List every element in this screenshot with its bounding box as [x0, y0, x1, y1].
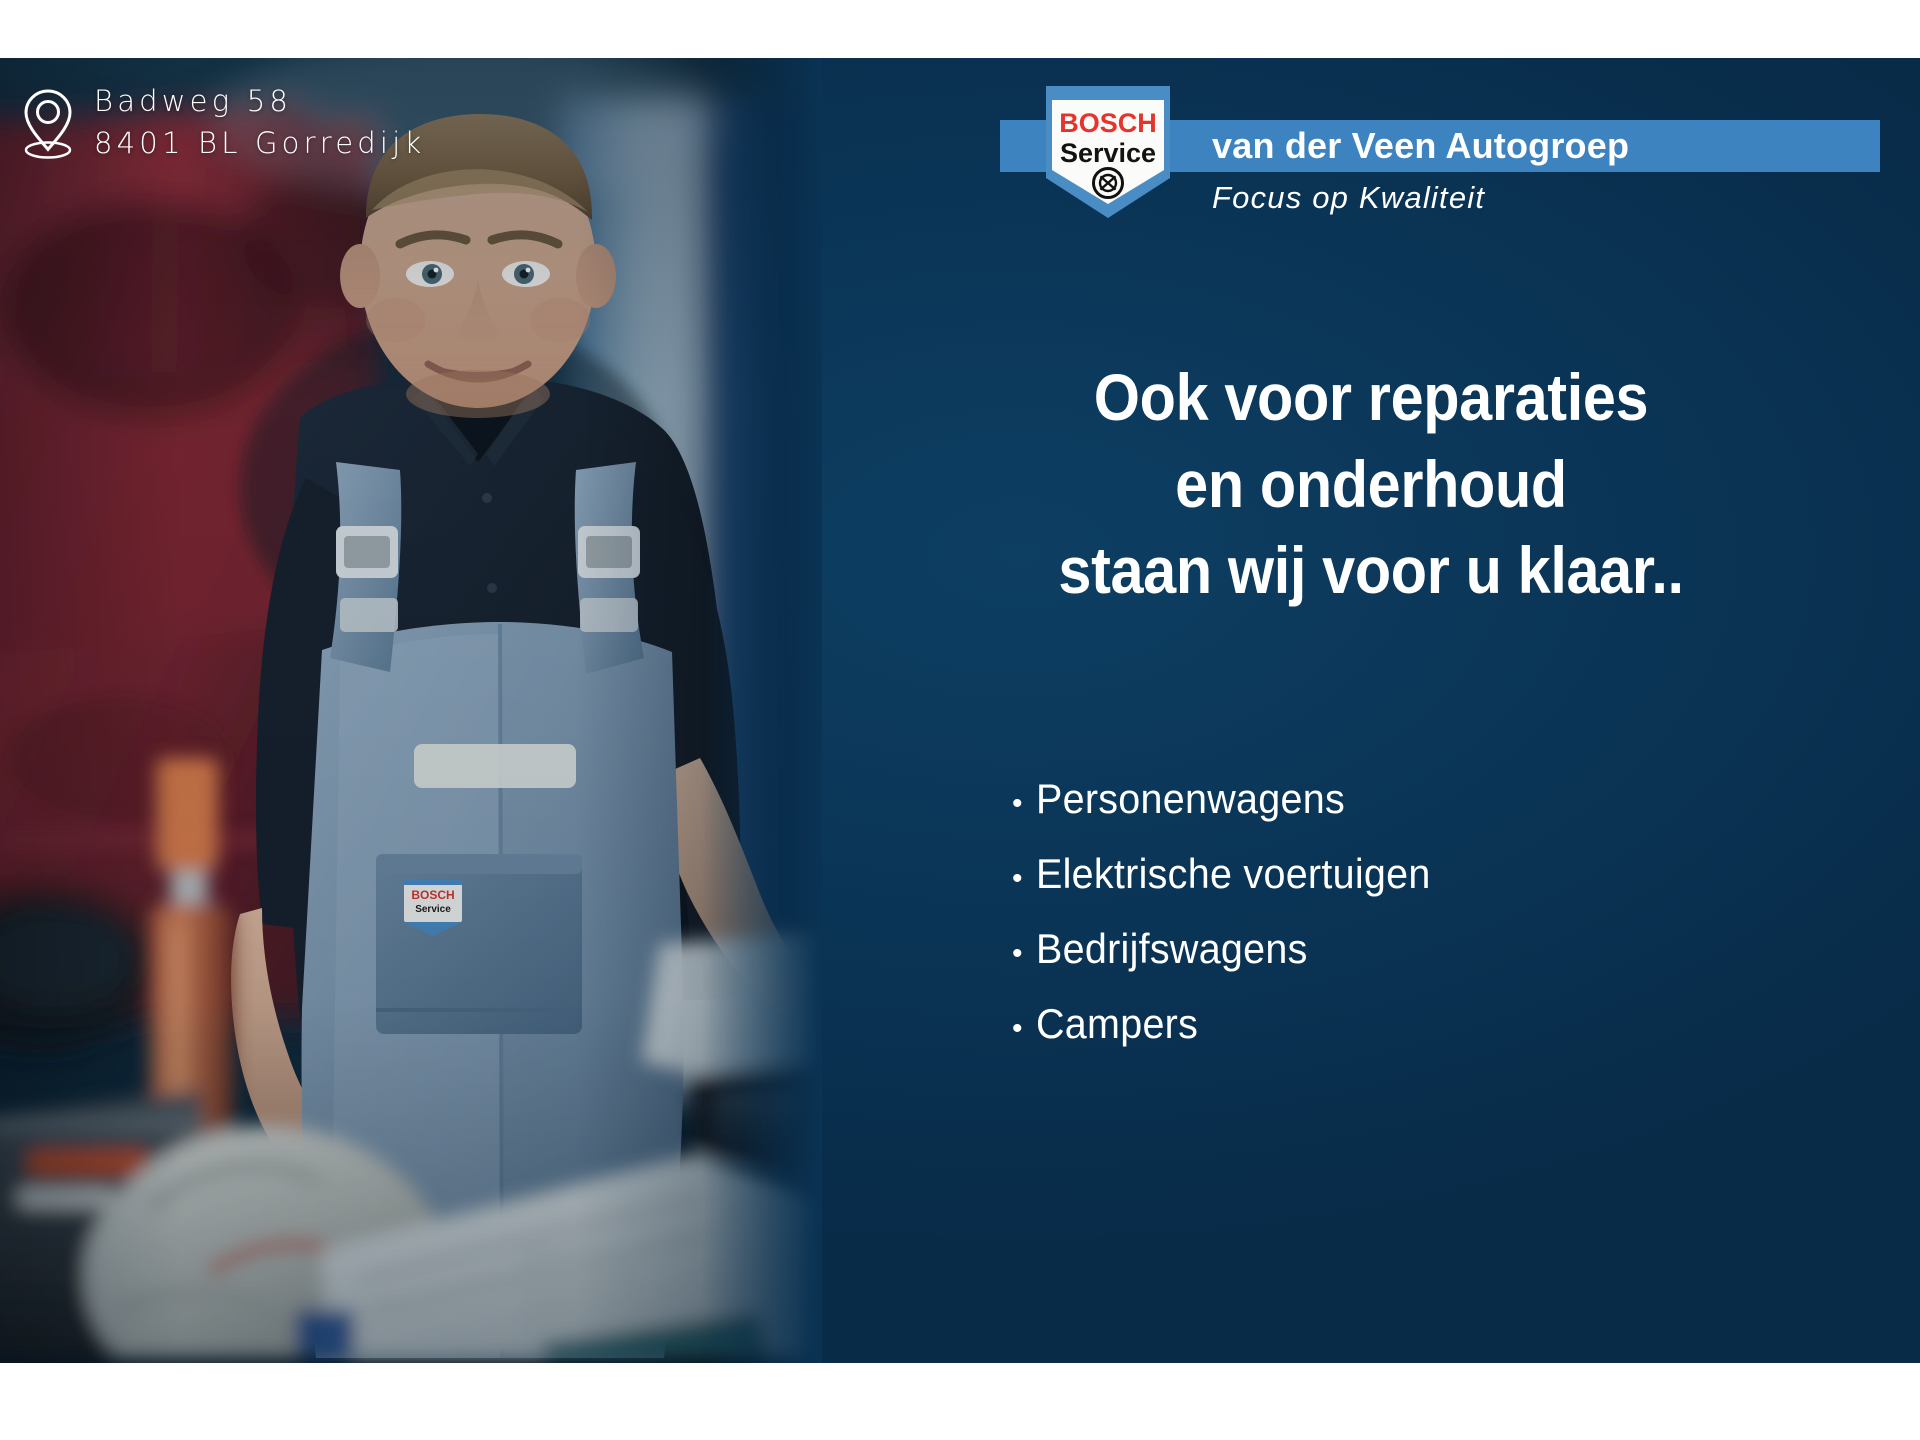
bullet-icon: •: [1012, 1014, 1032, 1044]
svg-text:Service: Service: [415, 904, 451, 915]
bosch-service-shield-icon: BOSCH Service: [1038, 82, 1178, 222]
brand-name: van der Veen Autogroep: [1212, 122, 1629, 170]
brand-tagline: Focus op Kwaliteit: [1212, 180, 1485, 216]
bosch-wordmark: BOSCH: [1059, 108, 1157, 138]
svg-text:BOSCH: BOSCH: [411, 888, 454, 902]
list-item: • Bedrijfswagens: [822, 925, 1920, 1000]
page-margin-bottom: [0, 1363, 1920, 1440]
headline-line-2: en onderhoud: [877, 441, 1865, 527]
address-lines: Badweg 58 8401 BL Gorredijk: [94, 84, 425, 162]
workshop-photo: BOSCH Service: [0, 58, 822, 1363]
list-item: • Campers: [822, 1000, 1920, 1075]
location-pin-icon: [22, 87, 74, 159]
content-panel: BOSCH Service van der Veen Autogroep Foc…: [822, 58, 1920, 1363]
promotional-banner: BOSCH Service: [0, 58, 1920, 1363]
page-margin-top: [0, 0, 1920, 58]
list-item-label: Bedrijfswagens: [1036, 925, 1308, 973]
list-item-label: Campers: [1036, 1000, 1198, 1048]
list-item: • Personenwagens: [822, 775, 1920, 850]
address-line-street: Badweg 58: [94, 84, 425, 120]
service-wordmark: Service: [1060, 138, 1156, 168]
headline-line-3: staan wij voor u klaar..: [877, 527, 1865, 613]
bullet-icon: •: [1012, 864, 1032, 894]
bullet-icon: •: [1012, 789, 1032, 819]
workshop-photo-illustration: BOSCH Service: [0, 58, 822, 1363]
address-line-city: 8401 BL Gorredijk: [94, 126, 425, 162]
list-item: • Elektrische voertuigen: [822, 850, 1920, 925]
headline: Ook voor reparaties en onderhoud staan w…: [877, 354, 1865, 613]
bullet-icon: •: [1012, 939, 1032, 969]
list-item-label: Elektrische voertuigen: [1036, 850, 1431, 898]
brand-header: BOSCH Service van der Veen Autogroep Foc…: [1000, 82, 1880, 222]
headline-line-1: Ook voor reparaties: [877, 354, 1865, 440]
address-block: Badweg 58 8401 BL Gorredijk: [22, 84, 425, 162]
list-item-label: Personenwagens: [1036, 775, 1345, 823]
services-list: • Personenwagens • Elektrische voertuige…: [822, 775, 1920, 1075]
